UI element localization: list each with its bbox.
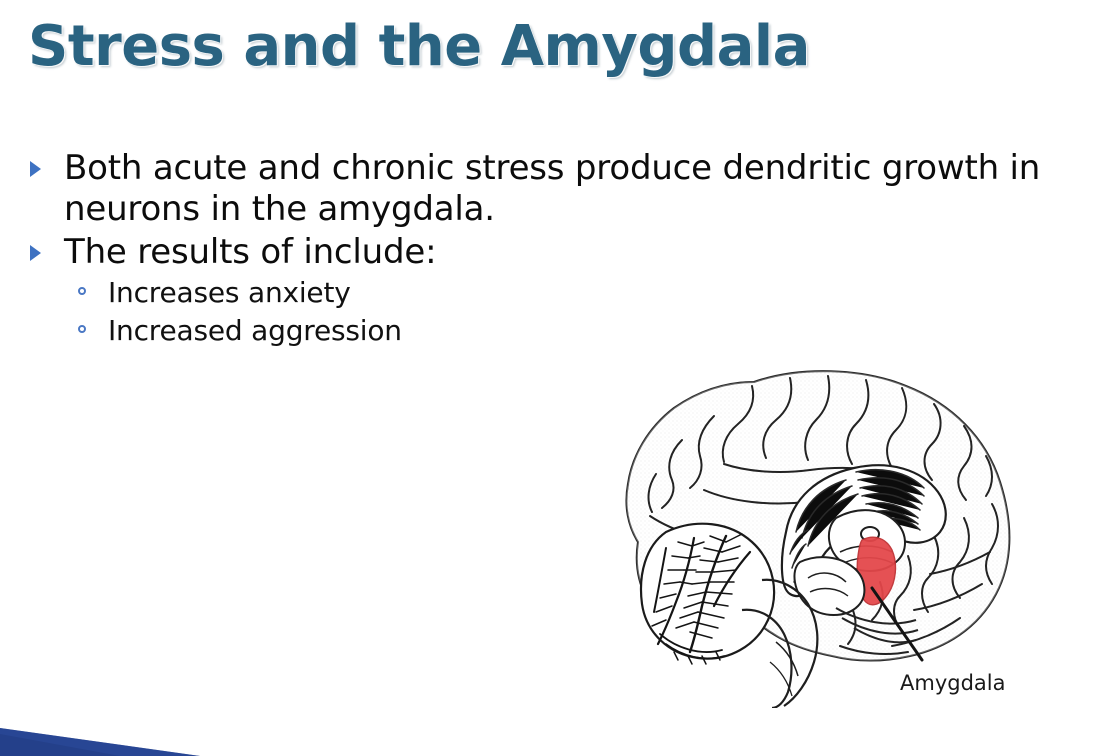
list-item: The results of include: xyxy=(30,232,1070,273)
circle-bullet-icon xyxy=(78,313,108,333)
sub-bullet-text: Increased aggression xyxy=(108,313,402,349)
bullet-text: Both acute and chronic stress produce de… xyxy=(64,148,1070,230)
sub-bullet-text: Increases anxiety xyxy=(108,275,351,311)
triangle-bullet-icon xyxy=(30,232,64,261)
list-item: Both acute and chronic stress produce de… xyxy=(30,148,1070,230)
slide: Stress and the Amygdala Both acute and c… xyxy=(0,0,1104,756)
sub-list-item: Increased aggression xyxy=(78,313,1070,349)
brain-illustration xyxy=(604,356,1056,708)
figure-caption-amygdala: Amygdala xyxy=(900,671,1005,695)
cerebellum xyxy=(641,524,774,664)
bullet-list: Both acute and chronic stress produce de… xyxy=(30,148,1070,350)
triangle-bullet-icon xyxy=(30,148,64,177)
brain-group xyxy=(604,356,1056,708)
bullet-text: The results of include: xyxy=(64,232,436,273)
sub-list-item: Increases anxiety xyxy=(78,275,1070,311)
circle-bullet-icon xyxy=(78,275,108,295)
corner-wedge-decoration xyxy=(0,722,220,756)
page-title: Stress and the Amygdala xyxy=(28,14,810,79)
